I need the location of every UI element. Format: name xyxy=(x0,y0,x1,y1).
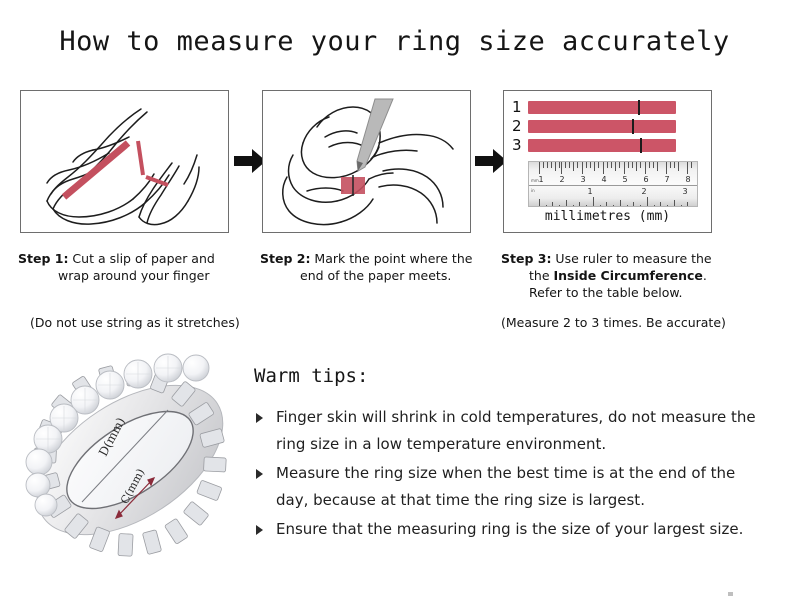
warm-tips-section: Warm tips: Finger skin will shrink in co… xyxy=(254,365,766,545)
ruler-tick xyxy=(555,162,556,171)
ruler-tick xyxy=(547,162,548,168)
triangle-bullet-icon xyxy=(256,525,263,535)
ruler-tick xyxy=(606,202,607,207)
ruler-illustration: mm 1 2 3 xyxy=(528,161,698,207)
tip-item: Measure the ring size when the best time… xyxy=(254,460,766,514)
strip-tick-mark xyxy=(638,100,640,115)
step-3-line2: the Inside Circumference. xyxy=(501,267,741,284)
ruler-tick xyxy=(607,162,608,168)
ruler-tick xyxy=(657,162,658,171)
ruler-tick xyxy=(565,162,566,168)
strip-row: 1 xyxy=(512,99,706,116)
warm-tips-heading: Warm tips: xyxy=(254,365,766,387)
ruler-tick xyxy=(627,205,628,207)
ruler-tick xyxy=(654,205,655,207)
ruler-label: 2 xyxy=(641,187,646,196)
triangle-bullet-icon xyxy=(256,413,263,423)
ruler-tick xyxy=(653,162,654,168)
step-1-line2: wrap around your finger xyxy=(18,267,238,284)
tip-text: Measure the ring size when the best time… xyxy=(276,464,735,509)
ruler-tick xyxy=(586,162,587,168)
ruler-label: 8 xyxy=(685,175,690,184)
pen-tool xyxy=(357,99,393,171)
ruler-tick xyxy=(559,162,560,168)
ruler-tick xyxy=(660,202,661,207)
step-2-caption: Step 2: Mark the point where the end of … xyxy=(260,250,482,284)
step-1-lead: Step 1: xyxy=(18,251,68,266)
ruler-tick xyxy=(624,162,625,174)
ruler-label: 1 xyxy=(538,175,543,184)
paper-slip-marked-red xyxy=(341,175,365,196)
step-3-illustration-panel: 1 2 3 mm xyxy=(503,90,712,233)
ruler-tick xyxy=(539,199,540,207)
ruler-tick xyxy=(598,162,599,168)
triangle-bullet-icon xyxy=(256,469,263,479)
ruler-tick xyxy=(636,162,637,171)
step-3-caption: Step 3: Use ruler to measure the the Ins… xyxy=(501,250,741,301)
ruler-label: 5 xyxy=(622,175,627,184)
ruler-tick xyxy=(573,162,574,171)
tip-text: Ensure that the measuring ring is the si… xyxy=(276,520,743,538)
step-2-lead: Step 2: xyxy=(260,251,310,266)
ruler-tick xyxy=(691,162,692,168)
ruler-tick xyxy=(611,162,612,168)
strip-bar xyxy=(528,101,676,114)
scan-artifact-mark xyxy=(728,592,733,596)
ruler-tick xyxy=(613,205,614,207)
ruler-tick xyxy=(582,162,583,174)
ruler-tick xyxy=(640,205,641,207)
hands-marking-paper-drawing xyxy=(263,91,470,232)
ruler-tick xyxy=(586,205,587,207)
strip-tick-mark xyxy=(632,119,634,134)
step-3-line2-post: . xyxy=(703,268,707,283)
ruler-tick xyxy=(687,202,688,207)
ruler-metric-scale: mm 1 2 3 xyxy=(529,162,697,185)
strip-bar xyxy=(528,120,676,133)
ruler-tick xyxy=(573,205,574,207)
ruler-unit-caption: millimetres (mm) xyxy=(504,209,711,224)
ruler-tick xyxy=(645,162,646,174)
ruler-label: 4 xyxy=(601,175,606,184)
step-3-lead: Step 3: xyxy=(501,251,551,266)
ruler-tick xyxy=(667,205,668,207)
ruler-tick xyxy=(620,200,621,207)
ruler-tick xyxy=(687,162,688,174)
step-1-illustration-panel xyxy=(20,90,229,233)
ruler-tick xyxy=(603,162,604,174)
ruler-tick xyxy=(670,162,671,168)
ruler-tick xyxy=(593,197,594,207)
ruler-tick xyxy=(577,162,578,168)
step-1-line1: Cut a slip of paper and xyxy=(68,251,214,266)
ruler-tick xyxy=(579,202,580,207)
ruler-tick xyxy=(546,205,547,207)
ruler-tick xyxy=(594,162,595,171)
ruler-tick xyxy=(633,202,634,207)
ruler-tick xyxy=(561,162,562,174)
ruler-unit-in: in xyxy=(531,188,535,193)
ruler-label: 3 xyxy=(682,187,687,196)
ruler-tick xyxy=(674,162,675,168)
ruler-tick xyxy=(619,162,620,168)
ruler-tick xyxy=(628,162,629,168)
ring-diagram-figure xyxy=(18,352,254,574)
ruler-tick xyxy=(674,200,675,207)
ruler-tick xyxy=(600,205,601,207)
ruler-tick xyxy=(647,197,648,207)
ruler-tick xyxy=(551,162,552,168)
ruler-tick xyxy=(632,162,633,168)
strip-number: 1 xyxy=(512,100,528,115)
tip-item: Ensure that the measuring ring is the si… xyxy=(254,516,766,543)
step-2-line1: Mark the point where the xyxy=(310,251,472,266)
eternity-ring-photo-illustration xyxy=(18,352,254,574)
ruler-tick xyxy=(681,205,682,207)
ruler-tick xyxy=(649,162,650,168)
strip-bar xyxy=(528,139,676,152)
ruler-tick xyxy=(566,200,567,207)
strip-number: 3 xyxy=(512,138,528,153)
step-2-illustration-panel xyxy=(262,90,471,233)
paper-slip-wrap-red xyxy=(138,141,168,185)
ruler-tick xyxy=(559,205,560,207)
step-1-note: (Do not use string as it stretches) xyxy=(30,315,240,330)
step-3-line3: Refer to the table below. xyxy=(501,284,741,301)
ruler-label: 6 xyxy=(643,175,648,184)
ruler-tick xyxy=(640,162,641,168)
page-title: How to measure your ring size accurately xyxy=(0,26,789,57)
ruler-tick xyxy=(552,202,553,207)
tip-text: Finger skin will shrink in cold temperat… xyxy=(276,408,756,453)
step-1-caption: Step 1: Cut a slip of paper and wrap aro… xyxy=(18,250,238,284)
step-2-line2: end of the paper meets. xyxy=(260,267,482,284)
step-3-line1: Use ruler to measure the xyxy=(551,251,711,266)
strip-tick-mark xyxy=(640,138,642,153)
ruler-label: 1 xyxy=(587,187,592,196)
steps-illustration-row: 1 2 3 mm xyxy=(0,90,789,240)
ruler-tick xyxy=(666,162,667,174)
ruler-tick xyxy=(539,162,540,174)
step-3-line2-pre: the xyxy=(529,268,554,283)
ruler-tick xyxy=(569,162,570,168)
strip-number: 2 xyxy=(512,119,528,134)
ruler-tick xyxy=(590,162,591,168)
ruler-tick xyxy=(615,162,616,171)
ruler-label: 2 xyxy=(559,175,564,184)
ruler-tick xyxy=(543,162,544,168)
hand-with-paper-slip-drawing xyxy=(21,91,228,232)
measured-paper-strips: 1 2 3 xyxy=(512,99,706,156)
ruler-label: 3 xyxy=(580,175,585,184)
ruler-label: 7 xyxy=(664,175,669,184)
inside-circumference-emphasis: Inside Circumference xyxy=(554,268,703,283)
ruler-imperial-scale: in 1 2 xyxy=(529,185,697,207)
step-3-note: (Measure 2 to 3 times. Be accurate) xyxy=(501,315,726,330)
strip-row: 2 xyxy=(512,118,706,135)
ruler-tick xyxy=(678,162,679,171)
strip-row: 3 xyxy=(512,137,706,154)
tip-item: Finger skin will shrink in cold temperat… xyxy=(254,404,766,458)
